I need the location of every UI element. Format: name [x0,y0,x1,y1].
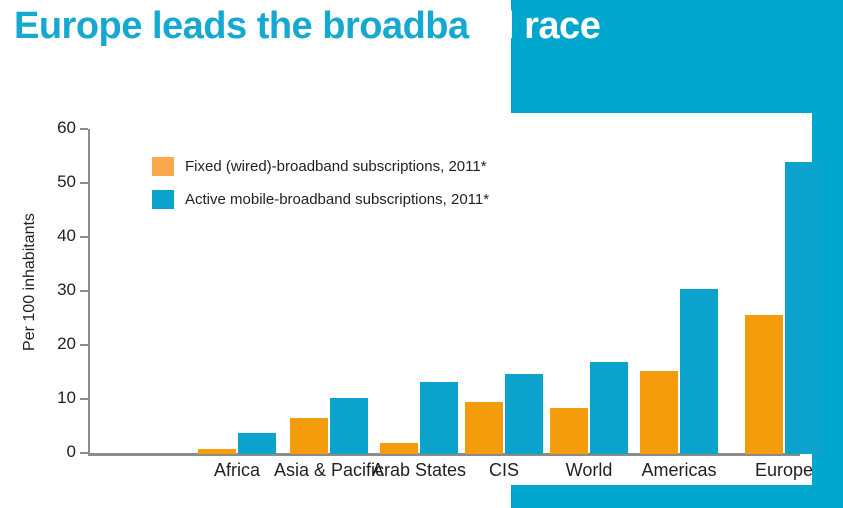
x-axis-label: CIS [489,460,519,481]
bar-mobile-broadband[interactable] [420,382,458,454]
y-tick-label: 20 [36,334,76,354]
y-tick-label: 60 [36,118,76,138]
bar-fixed-broadband[interactable] [290,418,328,454]
bar-group: World [550,113,628,454]
bar-mobile-broadband[interactable] [785,162,823,454]
bar-chart: Per 100 inhabitants 0102030405060 Fixed … [0,113,812,508]
y-tick-label: 50 [36,172,76,192]
y-axis-ticks: 0102030405060 [22,113,76,454]
x-axis-label: World [566,460,613,481]
y-tick-mark [80,236,88,238]
y-tick-mark [80,344,88,346]
bar-group: CIS [465,113,543,454]
x-axis-label: Americas [641,460,716,481]
bar-mobile-broadband[interactable] [505,374,543,454]
y-tick-label: 10 [36,388,76,408]
page-title-plain: Europe leads the broadba [14,5,469,47]
x-axis-label: Asia & Pacific [274,460,384,481]
bar-fixed-broadband[interactable] [640,371,678,454]
x-axis-label: Arab States [372,460,466,481]
bar-mobile-broadband[interactable] [680,289,718,454]
bar-group: Africa [198,113,276,454]
y-tick-mark [80,290,88,292]
page-title: Europe leads the broadband race [14,5,600,48]
y-tick-label: 30 [36,280,76,300]
y-tick-mark [80,182,88,184]
bar-mobile-broadband[interactable] [330,398,368,454]
bar-fixed-broadband[interactable] [465,402,503,454]
y-tick-mark [80,398,88,400]
bar-fixed-broadband[interactable] [550,408,588,454]
y-tick-label: 0 [36,442,76,462]
bar-mobile-broadband[interactable] [238,433,276,454]
plot-area: AfricaAsia & PacificArab StatesCISWorldA… [90,113,800,454]
bar-group: Arab States [380,113,458,454]
bar-group: Asia & Pacific [290,113,368,454]
x-axis-label: Africa [214,460,260,481]
bar-fixed-broadband[interactable] [745,315,783,454]
x-axis-label: Europe [755,460,813,481]
bar-mobile-broadband[interactable] [590,362,628,454]
bar-group: Americas [640,113,718,454]
y-tick-label: 40 [36,226,76,246]
bar-fixed-broadband[interactable] [198,449,236,454]
y-tick-mark [80,128,88,130]
y-tick-mark [80,452,88,454]
bar-group: Europe [745,113,823,454]
bar-fixed-broadband[interactable] [380,443,418,454]
page-title-overlay: nd race [469,5,601,47]
